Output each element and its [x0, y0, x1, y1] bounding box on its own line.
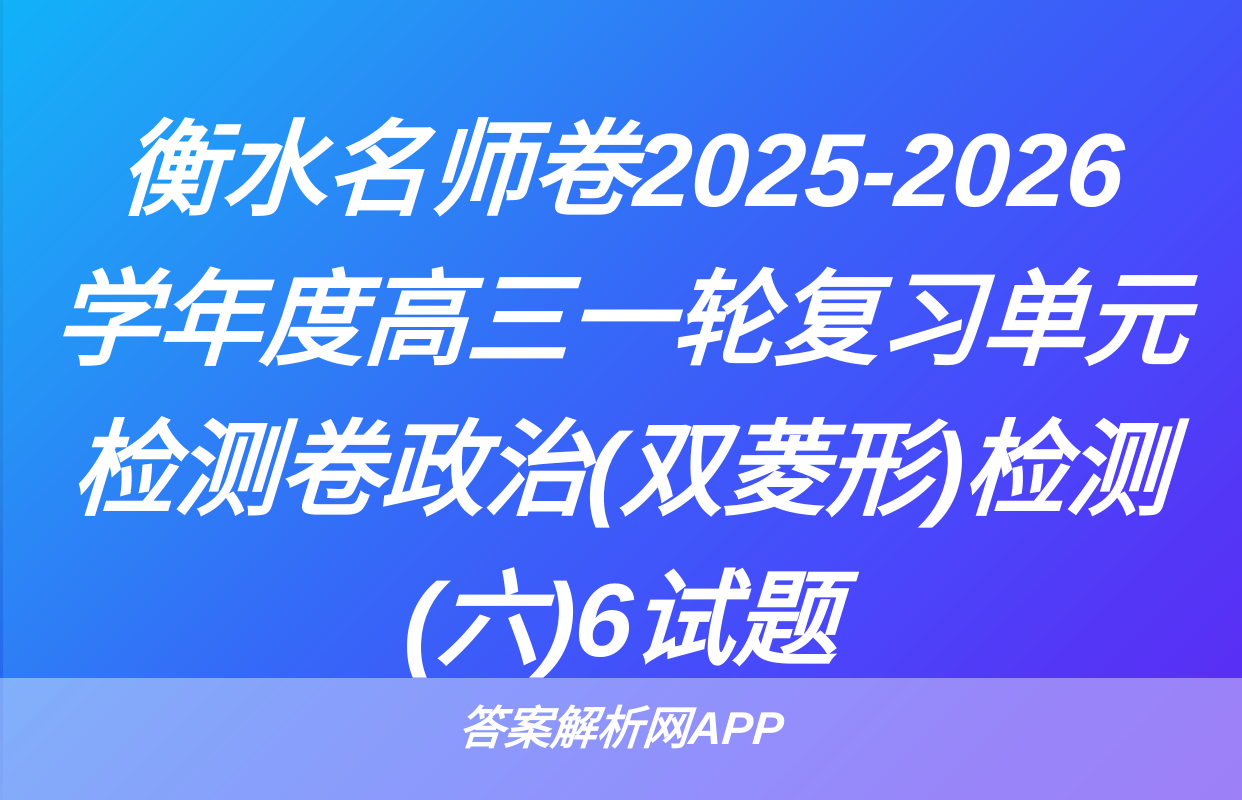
title-line-4: (六)6试题 — [24, 546, 1218, 696]
title-line-1: 衡水名师卷2025-2026 — [24, 96, 1218, 246]
exam-paper-banner: 衡水名师卷2025-2026 学年度高三一轮复习单元 检测卷政治(双菱形)检测 … — [0, 0, 1242, 800]
title-line-2: 学年度高三一轮复习单元 — [24, 246, 1218, 396]
watermark: 答案解析网APP — [0, 700, 1242, 756]
page-title: 衡水名师卷2025-2026 学年度高三一轮复习单元 检测卷政治(双菱形)检测 … — [0, 96, 1242, 696]
watermark-label: 答案解析网APP — [456, 700, 785, 756]
title-line-3: 检测卷政治(双菱形)检测 — [24, 396, 1218, 546]
